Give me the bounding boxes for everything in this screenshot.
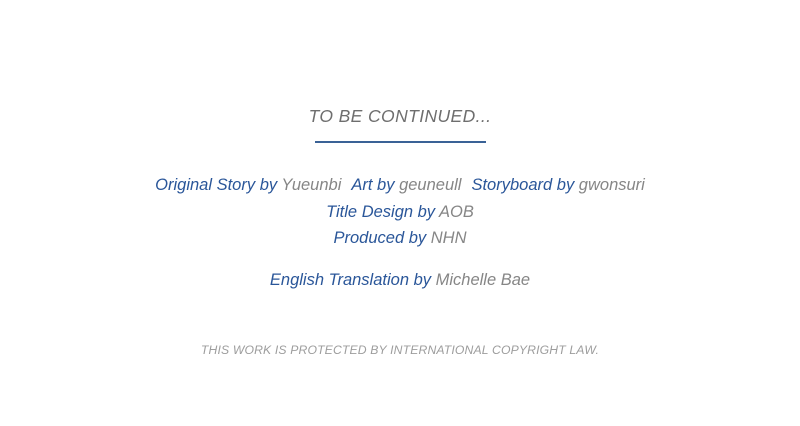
- credit-english-translation: English Translation by Michelle Bae: [270, 271, 530, 289]
- credit-role-label: Produced by: [334, 229, 427, 247]
- credit-produced-by: Produced by NHN: [334, 229, 467, 247]
- credit-original-story: Original Story by Yueunbi: [155, 176, 341, 194]
- credit-line-3: Produced by NHN: [0, 225, 800, 252]
- credit-role-label: Art by: [351, 176, 394, 194]
- to-be-continued-block: TO BE CONTINUED...: [0, 106, 800, 143]
- divider-rule: [315, 141, 486, 143]
- copyright-notice: THIS WORK IS PROTECTED BY INTERNATIONAL …: [201, 343, 599, 358]
- end-card-page: TO BE CONTINUED... Original Story by Yue…: [0, 0, 800, 426]
- credit-person-name: gwonsuri: [579, 176, 645, 194]
- credit-person-name: AOB: [439, 203, 474, 221]
- credit-title-design: Title Design by AOB: [326, 203, 474, 221]
- credit-storyboard: Storyboard by gwonsuri: [471, 176, 644, 194]
- credit-role-label: English Translation by: [270, 271, 431, 289]
- credit-line-2: Title Design by AOB: [0, 199, 800, 226]
- credit-line-1: Original Story by YueunbiArt by geuneull…: [0, 172, 800, 199]
- credit-role-label: Original Story by: [155, 176, 277, 194]
- credit-person-name: Yueunbi: [281, 176, 341, 194]
- credits-block: Original Story by YueunbiArt by geuneull…: [0, 172, 800, 293]
- credit-role-label: Storyboard by: [471, 176, 574, 194]
- credit-person-name: NHN: [431, 229, 467, 247]
- credit-line-4: English Translation by Michelle Bae: [0, 267, 800, 294]
- credit-person-name: geuneull: [399, 176, 461, 194]
- credit-role-label: Title Design by: [326, 203, 435, 221]
- credit-person-name: Michelle Bae: [436, 271, 530, 289]
- copyright-block: THIS WORK IS PROTECTED BY INTERNATIONAL …: [0, 341, 800, 359]
- credit-art: Art by geuneull: [351, 176, 461, 194]
- to-be-continued-text: TO BE CONTINUED...: [309, 106, 492, 127]
